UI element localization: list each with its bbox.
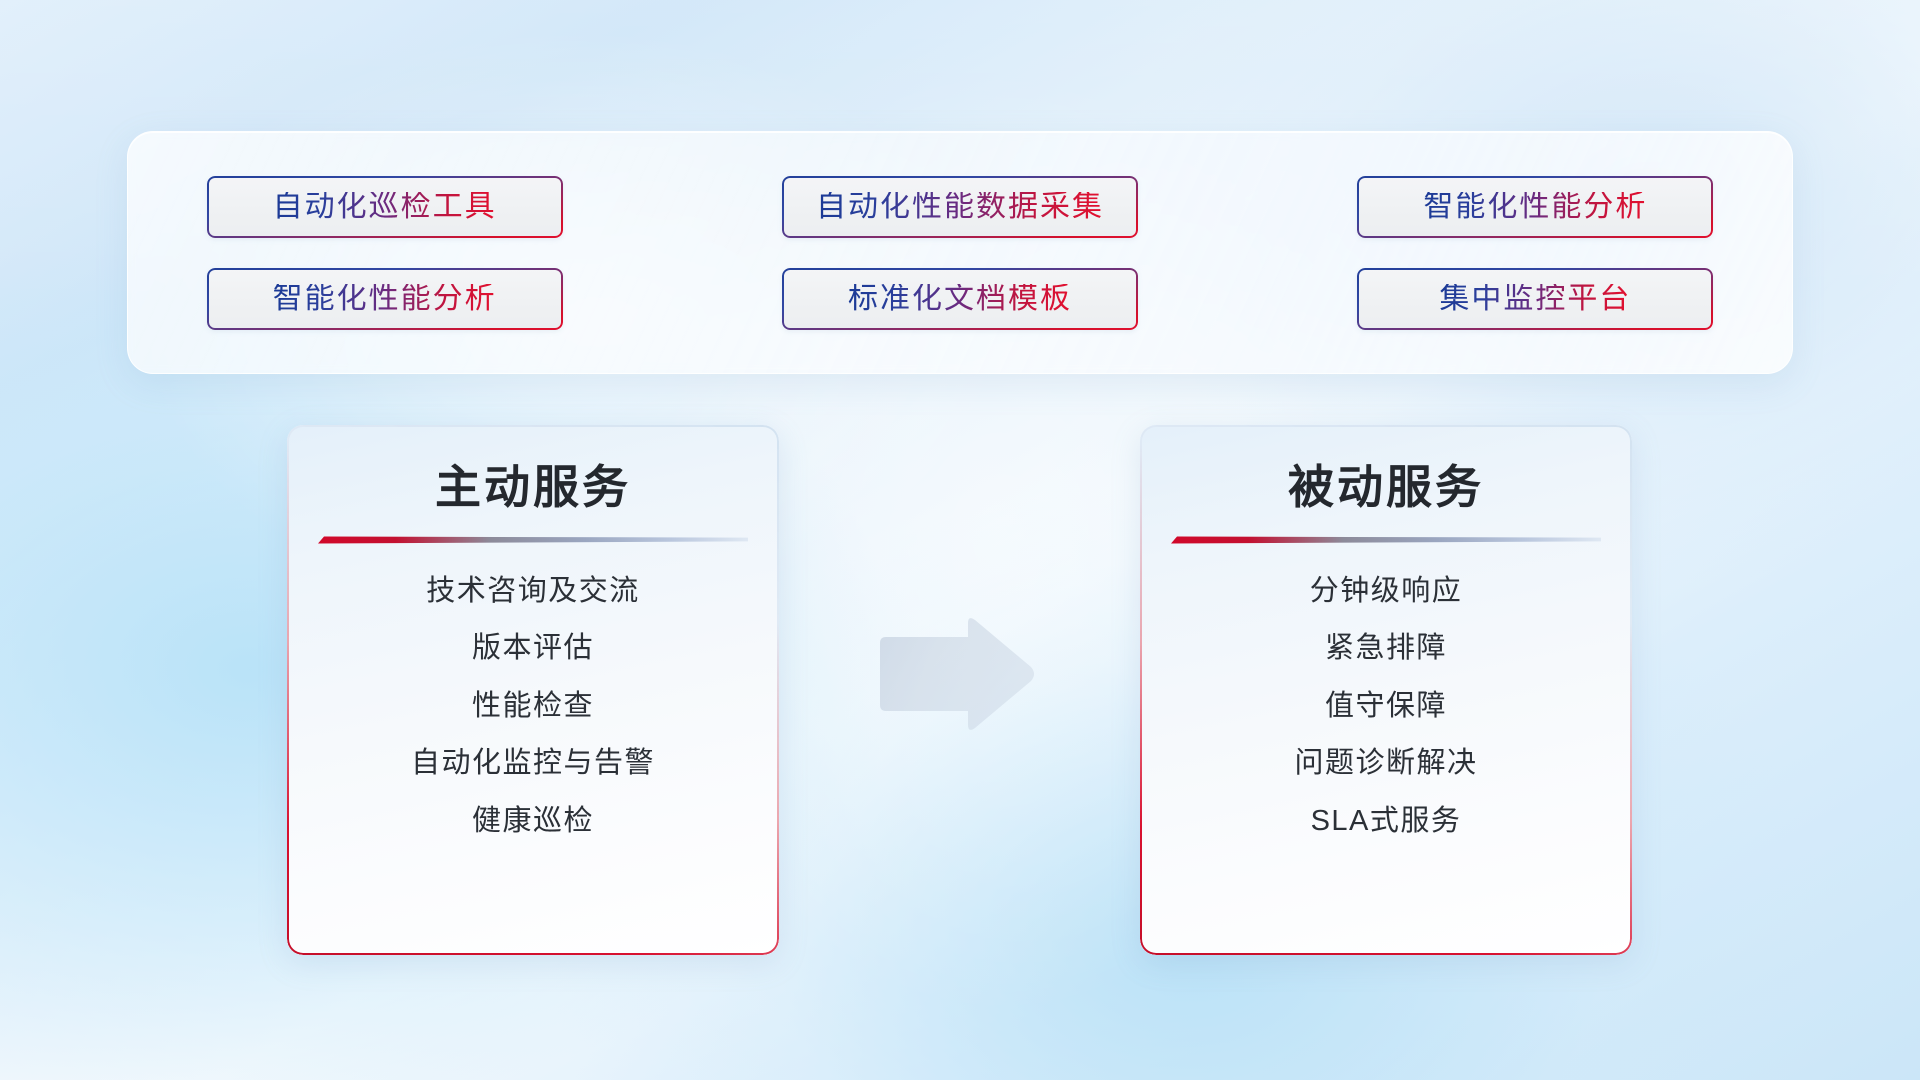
capability-pill[interactable]: 智能化性能分析 [207,268,563,330]
card-title-divider [318,536,748,544]
card-title-divider [1171,536,1601,544]
capability-pill-label: 智能化性能分析 [1423,192,1647,222]
list-item: 技术咨询及交流 [426,570,640,614]
capability-pill[interactable]: 集中监控平台 [1357,268,1713,330]
list-item: 紧急排障 [1325,627,1447,671]
list-item: 健康巡检 [472,800,594,844]
capability-pill[interactable]: 自动化巡检工具 [207,176,563,238]
capability-pill-label: 自动化性能数据采集 [816,192,1104,222]
capability-pill[interactable]: 标准化文档模板 [782,268,1138,330]
capability-tags-panel: 自动化巡检工具 自动化性能数据采集 智能化性能分析 智能化性能分析 标准化文档模… [127,131,1793,374]
card-title: 被动服务 [1140,461,1632,514]
list-item: 自动化监控与告警 [411,742,655,786]
capability-pill[interactable]: 自动化性能数据采集 [782,176,1138,238]
infographic-stage: 自动化巡检工具 自动化性能数据采集 智能化性能分析 智能化性能分析 标准化文档模… [0,0,1920,1080]
list-item: 分钟级响应 [1310,570,1463,614]
list-item: 性能检查 [472,685,594,729]
list-item: 版本评估 [472,627,594,671]
service-list: 分钟级响应 紧急排障 值守保障 问题诊断解决 SLA式服务 [1140,570,1632,844]
list-item: SLA式服务 [1311,800,1462,844]
service-card-reactive: 被动服务 分钟级响应 紧急排障 值守保障 [1140,425,1632,955]
arrow-right-icon [874,613,1036,735]
list-item: 问题诊断解决 [1294,742,1477,786]
service-card-proactive: 主动服务 技术咨询及交流 版本评估 性能检查 [287,425,779,955]
service-list: 技术咨询及交流 版本评估 性能检查 自动化监控与告警 健康巡检 [287,570,779,844]
capability-pill-label: 集中监控平台 [1439,284,1631,314]
capability-pill-label: 自动化巡检工具 [273,192,497,222]
capability-pill[interactable]: 智能化性能分析 [1357,176,1713,238]
list-item: 值守保障 [1325,685,1447,729]
capability-pill-label: 智能化性能分析 [273,284,497,314]
card-title: 主动服务 [287,461,779,514]
capability-pill-grid: 自动化巡检工具 自动化性能数据采集 智能化性能分析 智能化性能分析 标准化文档模… [195,176,1725,330]
capability-pill-label: 标准化文档模板 [848,284,1072,314]
